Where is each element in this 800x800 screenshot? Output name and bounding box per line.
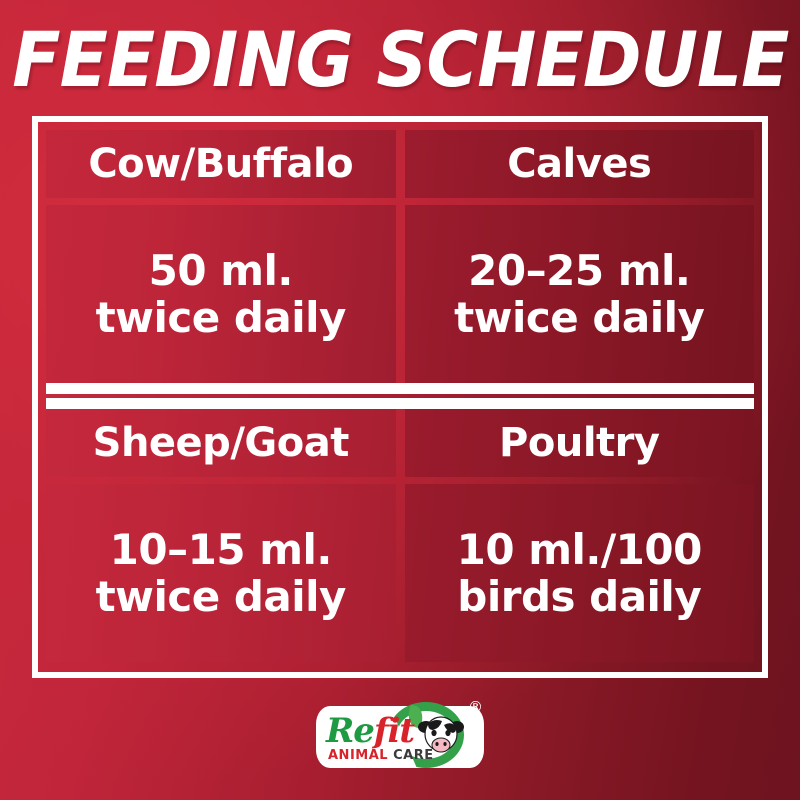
- header-label-sheep-goat: Sheep/Goat: [93, 421, 349, 466]
- schedule-block-1: Cow/Buffalo Calves 50 ml. twice daily: [46, 130, 754, 383]
- table-header-row-2: Sheep/Goat Poultry: [46, 409, 754, 477]
- schedule-table: Cow/Buffalo Calves 50 ml. twice daily: [32, 116, 768, 678]
- schedule-block-2: Sheep/Goat Poultry 10–15 ml. twice daily: [46, 409, 754, 662]
- header-cell-cow-buffalo: Cow/Buffalo: [46, 130, 396, 198]
- header-cell-poultry: Poultry: [405, 409, 755, 477]
- page-title: FEEDING SCHEDULE: [0, 14, 800, 106]
- header-label-cow-buffalo: Cow/Buffalo: [88, 142, 353, 187]
- logo-tagline-care: CARE: [393, 748, 434, 763]
- dose-text-calves: 20–25 ml. twice daily: [454, 247, 704, 341]
- table-body-row-1: 50 ml. twice daily 20–25 ml. twice daily: [46, 205, 754, 383]
- column-divider: [396, 205, 405, 383]
- dose-line-2: birds daily: [457, 573, 702, 620]
- dose-line-1: 10–15 ml.: [110, 525, 332, 574]
- dose-line-2: twice daily: [96, 573, 346, 620]
- dose-line-2: twice daily: [454, 294, 704, 341]
- page-title-text: FEEDING SCHEDULE: [12, 22, 788, 98]
- dose-line-2: twice daily: [96, 294, 346, 341]
- table-header-row-1: Cow/Buffalo Calves: [46, 130, 754, 198]
- column-divider: [396, 484, 405, 662]
- dose-text-cow-buffalo: 50 ml. twice daily: [96, 247, 346, 341]
- logo-word-part-fit: fit: [374, 711, 414, 751]
- logo-wordmark: Refit: [326, 714, 414, 748]
- header-label-poultry: Poultry: [499, 421, 659, 466]
- dose-cell-calves: 20–25 ml. twice daily: [405, 205, 755, 383]
- dose-line-1: 20–25 ml.: [468, 246, 690, 295]
- table-body-row-2: 10–15 ml. twice daily 10 ml./100 birds d…: [46, 484, 754, 662]
- logo-tagline: ANIMAL CARE: [328, 748, 434, 763]
- row-divider: [46, 477, 754, 484]
- feeding-schedule-poster: FEEDING SCHEDULE Cow/Buffalo Calves 50 m…: [0, 0, 800, 800]
- dose-cell-poultry: 10 ml./100 birds daily: [405, 484, 755, 662]
- dose-line-1: 10 ml./100: [457, 525, 702, 574]
- row-divider: [46, 198, 754, 205]
- refit-animal-care-logo: Refit ANIMAL CARE ®: [310, 698, 490, 776]
- logo-word-part-re: Re: [326, 711, 374, 751]
- brand-logo: Refit ANIMAL CARE ®: [0, 694, 800, 780]
- dose-text-poultry: 10 ml./100 birds daily: [457, 526, 702, 620]
- logo-tagline-animal: ANIMAL: [328, 748, 388, 763]
- dose-cell-cow-buffalo: 50 ml. twice daily: [46, 205, 396, 383]
- column-divider: [396, 130, 405, 198]
- block-divider: [46, 383, 754, 409]
- dose-line-1: 50 ml.: [149, 246, 293, 295]
- header-label-calves: Calves: [507, 142, 651, 187]
- dose-text-sheep-goat: 10–15 ml. twice daily: [96, 526, 346, 620]
- header-cell-sheep-goat: Sheep/Goat: [46, 409, 396, 477]
- registered-trademark-icon: ®: [468, 700, 483, 715]
- column-divider: [396, 409, 405, 477]
- header-cell-calves: Calves: [405, 130, 755, 198]
- dose-cell-sheep-goat: 10–15 ml. twice daily: [46, 484, 396, 662]
